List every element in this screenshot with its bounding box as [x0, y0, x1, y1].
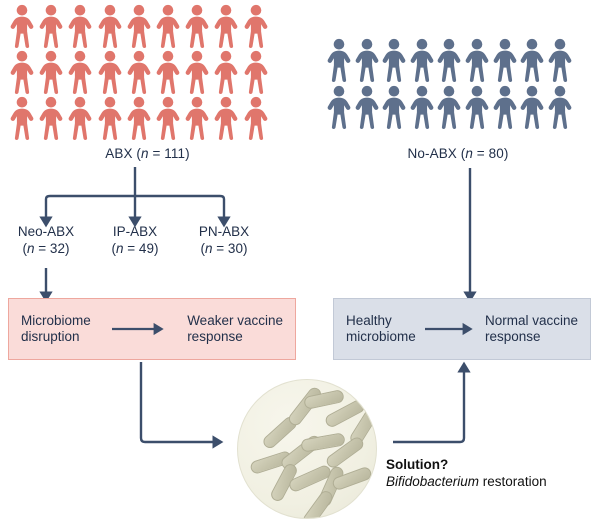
- branch-label-neo-abx: Neo-ABX (n = 32): [0, 224, 92, 257]
- person-icon: [214, 96, 238, 140]
- person-icon: [39, 50, 63, 94]
- solution-body: Bifidobacterium restoration: [386, 473, 547, 490]
- disruption-left-text: Microbiome disruption: [21, 313, 91, 346]
- no-abx-pictogram: [327, 38, 589, 129]
- person-icon: [493, 38, 517, 82]
- outcome-box-healthy: Healthy microbiome Normal vaccine respon…: [333, 298, 591, 360]
- cohort-abx: [10, 4, 285, 144]
- cohort-no-abx: [327, 38, 589, 138]
- person-icon: [10, 4, 34, 48]
- person-icon: [10, 50, 34, 94]
- solution-caption: Solution? Bifidobacterium restoration: [386, 456, 547, 490]
- branch-label-pn-abx: PN-ABX (n = 30): [178, 224, 270, 257]
- person-icon: [437, 85, 461, 129]
- bacteria-dish-icon: [237, 379, 377, 519]
- person-icon: [127, 96, 151, 140]
- person-icon: [39, 96, 63, 140]
- person-icon: [410, 85, 434, 129]
- person-icon: [127, 4, 151, 48]
- solution-title: Solution?: [386, 456, 547, 473]
- branch-name-pn-abx: PN-ABX: [199, 224, 249, 239]
- dish-to-healthy-arrow: [393, 370, 464, 442]
- person-icon: [68, 4, 92, 48]
- person-icon: [244, 4, 268, 48]
- person-icon: [382, 85, 406, 129]
- person-icon: [520, 85, 544, 129]
- person-icon: [127, 50, 151, 94]
- person-icon: [548, 38, 572, 82]
- person-icon: [98, 4, 122, 48]
- person-icon: [493, 85, 517, 129]
- person-icon: [214, 4, 238, 48]
- person-icon: [214, 50, 238, 94]
- person-icon: [10, 96, 34, 140]
- person-icon: [382, 38, 406, 82]
- disruption-to-dish-arrow: [141, 362, 215, 442]
- person-icon: [520, 38, 544, 82]
- person-icon: [327, 85, 351, 129]
- person-icon: [410, 38, 434, 82]
- pictogram-row: [10, 96, 285, 140]
- abx-cohort-label: ABX (n = 111): [10, 146, 285, 161]
- outcome-box-disruption: Microbiome disruption Weaker vaccine res…: [8, 298, 296, 360]
- pictogram-row: [327, 85, 589, 129]
- person-icon: [68, 96, 92, 140]
- healthy-left-text: Healthy microbiome: [346, 313, 416, 346]
- person-icon: [185, 96, 209, 140]
- person-icon: [244, 50, 268, 94]
- person-icon: [437, 38, 461, 82]
- person-icon: [465, 85, 489, 129]
- person-icon: [156, 96, 180, 140]
- healthy-right-text: Normal vaccine response: [485, 313, 578, 346]
- solution-organism: Bifidobacterium: [386, 474, 479, 489]
- person-icon: [68, 50, 92, 94]
- branch-label-ip-abx: IP-ABX (n = 49): [89, 224, 181, 257]
- abx-pictogram: [10, 4, 285, 140]
- disruption-inner-arrow: [110, 323, 168, 335]
- diagram-canvas: ABX (n = 111) No-ABX (n = 80): [0, 0, 600, 519]
- branch-name-neo-abx: Neo-ABX: [18, 224, 74, 239]
- pictogram-row: [10, 50, 285, 94]
- abx-branch-connector: [46, 167, 224, 219]
- person-icon: [355, 85, 379, 129]
- healthy-inner-arrow: [423, 323, 477, 335]
- pictogram-row: [327, 38, 589, 82]
- disruption-right-text: Weaker vaccine response: [187, 313, 283, 346]
- person-icon: [156, 50, 180, 94]
- person-icon: [465, 38, 489, 82]
- person-icon: [185, 4, 209, 48]
- person-icon: [327, 38, 351, 82]
- person-icon: [98, 50, 122, 94]
- person-icon: [156, 4, 180, 48]
- person-icon: [98, 96, 122, 140]
- branch-name-ip-abx: IP-ABX: [113, 224, 157, 239]
- pictogram-row: [10, 4, 285, 48]
- no-abx-cohort-label: No-ABX (n = 80): [327, 146, 589, 161]
- person-icon: [355, 38, 379, 82]
- person-icon: [244, 96, 268, 140]
- person-icon: [548, 85, 572, 129]
- person-icon: [39, 4, 63, 48]
- person-icon: [185, 50, 209, 94]
